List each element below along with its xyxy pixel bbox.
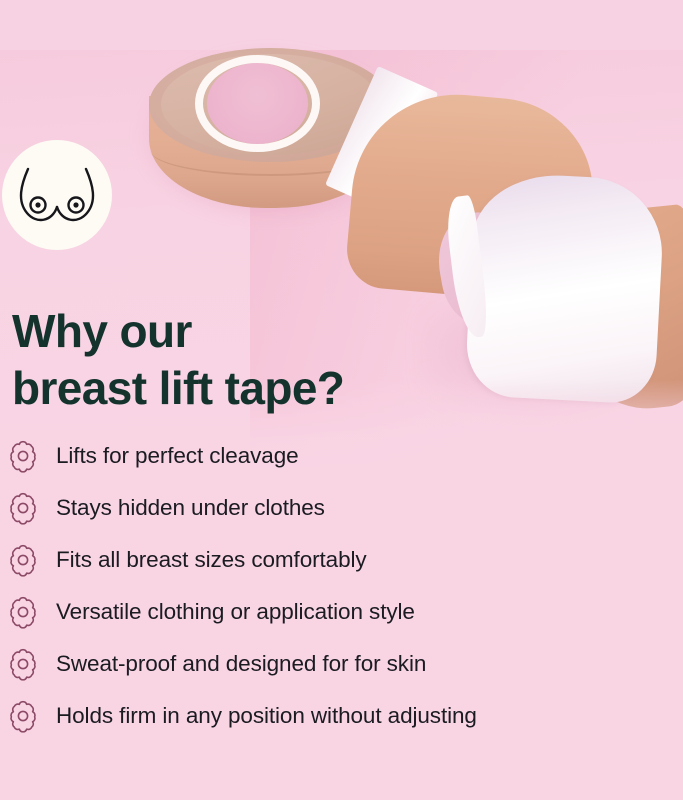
promo-poster: Why our breast lift tape? Lifts for perf… [0,0,683,800]
list-item: Lifts for perfect cleavage [6,430,678,482]
flower-bullet-icon [6,491,40,525]
list-item: Sweat-proof and designed for for skin [6,638,678,690]
tape-roll-core-ring [195,55,320,152]
flower-bullet-icon [6,543,40,577]
flower-bullet-icon [6,699,40,733]
photo-backdrop-upper [0,0,683,52]
list-item-label: Versatile clothing or application style [56,599,415,625]
flower-bullet-icon [6,647,40,681]
headline-line-1: Why our [12,303,572,360]
headline-line-2: breast lift tape? [12,360,572,417]
list-item: Fits all breast sizes comfortably [6,534,678,586]
flower-bullet-icon [6,439,40,473]
list-item-label: Lifts for perfect cleavage [56,443,299,469]
page-title: Why our breast lift tape? [12,303,572,417]
list-item: Stays hidden under clothes [6,482,678,534]
list-item-label: Fits all breast sizes comfortably [56,547,367,573]
list-item-label: Stays hidden under clothes [56,495,325,521]
list-item-label: Holds firm in any position without adjus… [56,703,477,729]
list-item: Versatile clothing or application style [6,586,678,638]
feature-list: Lifts for perfect cleavage Stays hidden … [6,430,678,742]
list-item: Holds firm in any position without adjus… [6,690,678,742]
brand-badge [2,140,112,250]
flower-bullet-icon [6,595,40,629]
breasts-logo-icon [14,163,100,227]
list-item-label: Sweat-proof and designed for for skin [56,651,426,677]
